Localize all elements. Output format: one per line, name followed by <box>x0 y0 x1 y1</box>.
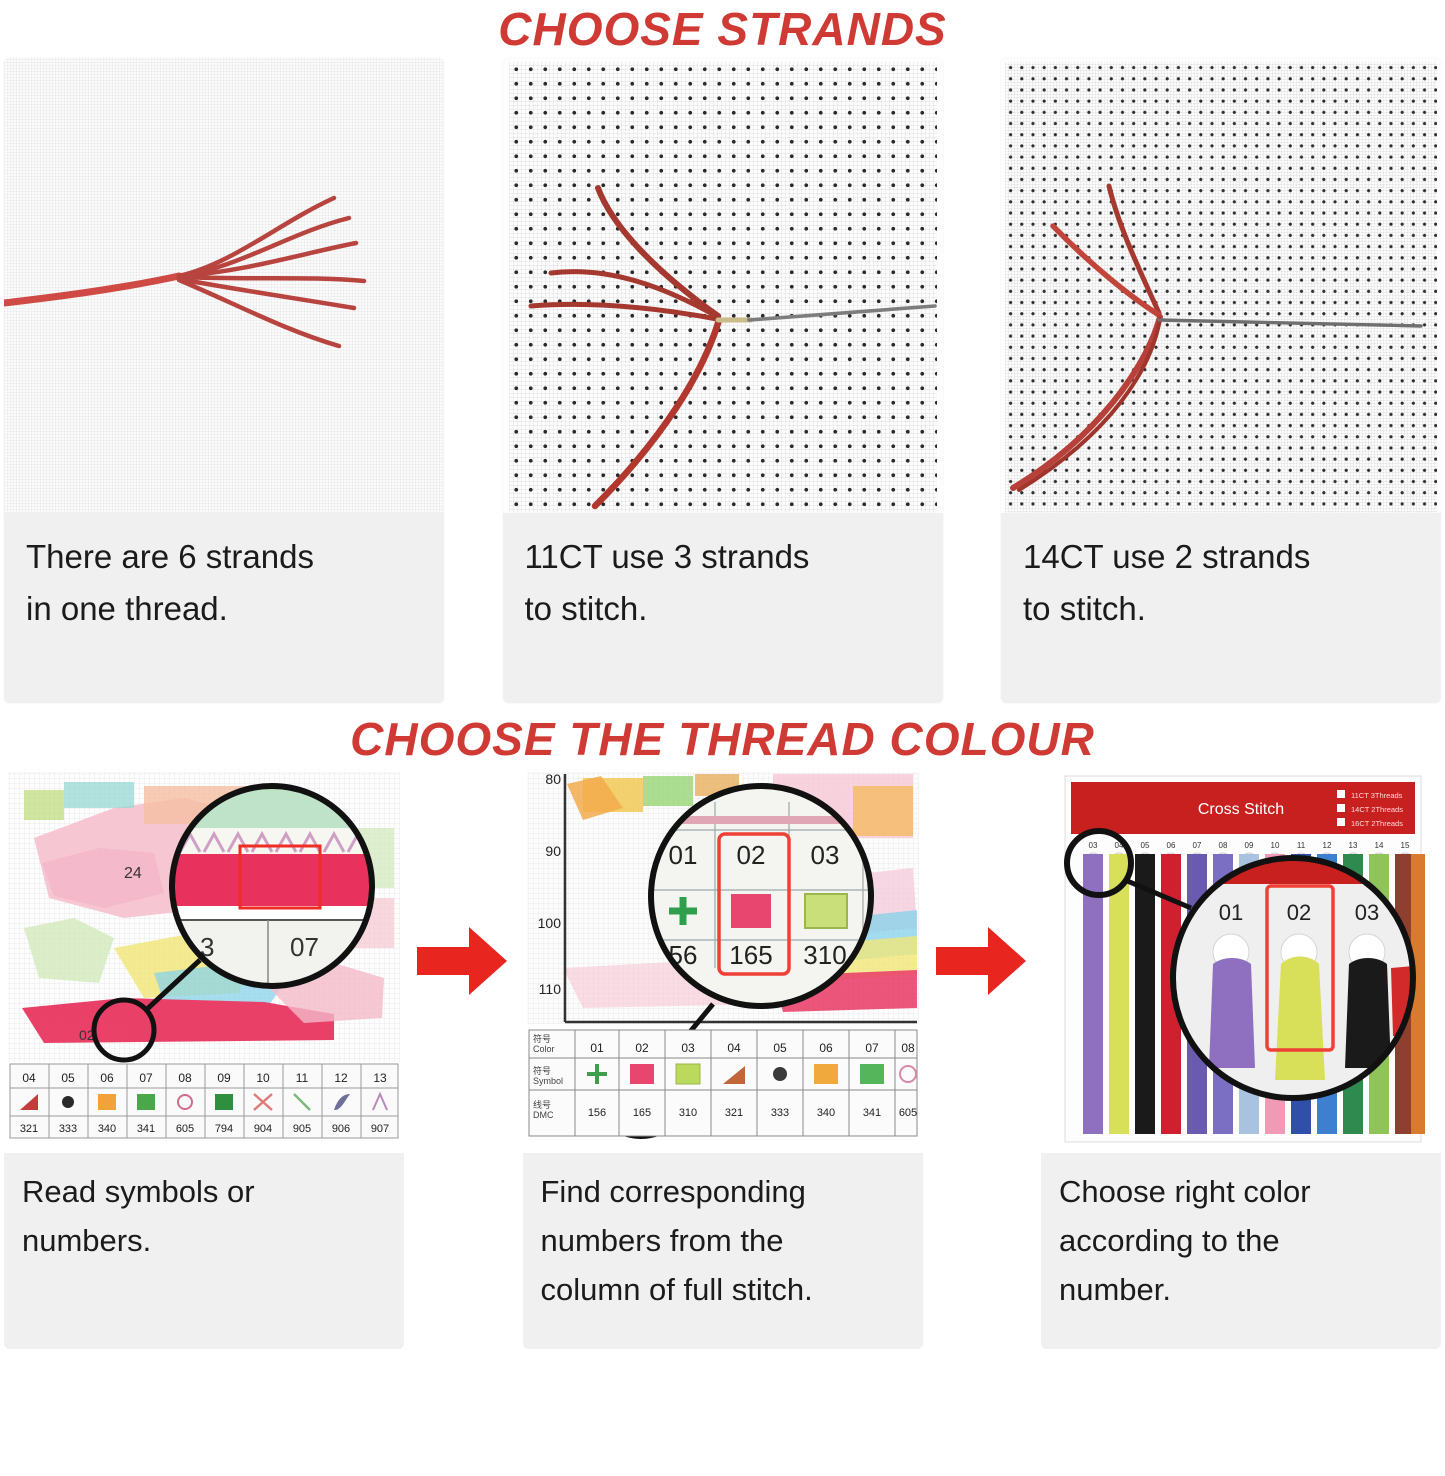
svg-text:794: 794 <box>215 1123 233 1135</box>
svg-text:08: 08 <box>178 1071 192 1085</box>
svg-text:90: 90 <box>545 843 561 859</box>
three-strand-needle-illustration <box>503 58 943 513</box>
svg-text:310: 310 <box>678 1107 696 1119</box>
right-arrow-icon <box>417 921 509 1001</box>
panel-choose-color: Cross Stitch 11CT 3Threads 14CT 2Threads… <box>1041 768 1441 1349</box>
svg-text:12: 12 <box>1323 841 1332 850</box>
svg-text:340: 340 <box>816 1107 834 1119</box>
svg-text:321: 321 <box>724 1107 742 1119</box>
svg-text:13: 13 <box>373 1071 387 1085</box>
caption-line-2: numbers from the <box>541 1216 905 1265</box>
svg-text:03: 03 <box>681 1041 695 1055</box>
grid-chart-illustration: 80 90 100 110 02 165 <box>523 768 923 1153</box>
panel-find-numbers: 80 90 100 110 02 165 <box>523 768 923 1349</box>
svg-text:04: 04 <box>727 1041 741 1055</box>
svg-text:15: 15 <box>1401 841 1410 850</box>
svg-text:符号: 符号 <box>533 1033 551 1044</box>
caption-choose-color: Choose right color according to the numb… <box>1041 1153 1441 1349</box>
mag-thread-02: 02 <box>1287 900 1311 925</box>
svg-text:10: 10 <box>1271 841 1280 850</box>
svg-text:156: 156 <box>587 1107 605 1119</box>
caption-line-1: Find corresponding <box>541 1167 905 1216</box>
panel-six-strands: There are 6 strands in one thread. <box>4 58 444 703</box>
mag-number-02: 02 <box>736 840 765 870</box>
legend-table-2: 符号Color 符号Symbol 线号DMC 010203 040506 070… <box>529 1030 917 1136</box>
svg-text:04: 04 <box>22 1071 36 1085</box>
svg-text:14CT 2Threads: 14CT 2Threads <box>1351 805 1403 814</box>
caption-find-numbers: Find corresponding numbers from the colu… <box>523 1153 923 1349</box>
svg-text:165: 165 <box>632 1107 650 1119</box>
svg-text:符号: 符号 <box>533 1065 551 1076</box>
svg-text:333: 333 <box>770 1107 788 1119</box>
svg-text:340: 340 <box>98 1123 116 1135</box>
panel-14ct-two-strands: 14CT use 2 strands to stitch. <box>1001 58 1441 703</box>
caption-14ct: 14CT use 2 strands to stitch. <box>1001 513 1441 703</box>
strands-panel-row: There are 6 strands in one thread. 11CT … <box>0 58 1445 708</box>
caption-line-1: There are 6 strands <box>26 531 422 583</box>
mag-number-03: 03 <box>810 840 839 870</box>
svg-text:06: 06 <box>100 1071 114 1085</box>
mag-thread-03: 03 <box>1355 900 1379 925</box>
panel-11ct-three-strands: 11CT use 3 strands to stitch. <box>503 58 943 703</box>
svg-text:Color: Color <box>533 1044 555 1054</box>
six-strand-thread-illustration <box>4 58 444 513</box>
caption-six-strands: There are 6 strands in one thread. <box>4 513 444 703</box>
svg-text:100: 100 <box>537 915 561 931</box>
right-arrow-icon <box>936 921 1028 1001</box>
caption-line-1: Read symbols or <box>22 1167 386 1216</box>
mag-code-right: 310 <box>803 940 846 970</box>
svg-text:05: 05 <box>773 1041 787 1055</box>
mag-code-center: 165 <box>729 940 772 970</box>
svg-text:07: 07 <box>865 1041 879 1055</box>
svg-text:11CT 3Threads: 11CT 3Threads <box>1351 791 1403 800</box>
section-title-choose-strands: CHOOSE STRANDS <box>0 0 1445 58</box>
svg-text:02: 02 <box>635 1041 649 1055</box>
thread-organizer-illustration: Cross Stitch 11CT 3Threads 14CT 2Threads… <box>1041 768 1441 1153</box>
svg-text:110: 110 <box>538 981 561 997</box>
caption-line-2: in one thread. <box>26 583 422 635</box>
svg-text:06: 06 <box>1167 841 1176 850</box>
svg-text:03: 03 <box>1089 841 1098 850</box>
panel-read-symbols: 24 02 3 <box>4 768 404 1349</box>
svg-text:线号: 线号 <box>533 1099 551 1110</box>
mag-number-01: 01 <box>668 840 697 870</box>
arrow-2-wrapper <box>932 768 1032 1153</box>
photo-14ct-aida <box>1001 58 1441 513</box>
chart-cell-label-24: 24 <box>124 865 142 882</box>
svg-text:321: 321 <box>20 1123 38 1135</box>
svg-text:905: 905 <box>293 1123 311 1135</box>
svg-text:08: 08 <box>1219 841 1228 850</box>
card-title: Cross Stitch <box>1198 801 1284 818</box>
svg-text:07: 07 <box>1193 841 1202 850</box>
caption-line-2: according to the <box>1059 1216 1423 1265</box>
svg-text:341: 341 <box>137 1123 155 1135</box>
svg-text:605: 605 <box>176 1123 194 1135</box>
legend-table: 040506 070809 101112 13 <box>10 1064 398 1138</box>
svg-text:07: 07 <box>139 1071 153 1085</box>
caption-line-2: numbers. <box>22 1216 386 1265</box>
svg-text:333: 333 <box>59 1123 77 1135</box>
caption-line-1: Choose right color <box>1059 1167 1423 1216</box>
thread-colour-panel-row: 24 02 3 <box>0 768 1445 1368</box>
caption-line-1: 14CT use 2 strands <box>1023 531 1419 583</box>
svg-text:341: 341 <box>862 1107 880 1119</box>
svg-text:16CT 2Threads: 16CT 2Threads <box>1351 819 1403 828</box>
svg-text:11: 11 <box>296 1071 309 1085</box>
svg-text:12: 12 <box>334 1071 348 1085</box>
photo-thread-organizer: Cross Stitch 11CT 3Threads 14CT 2Threads… <box>1041 768 1441 1153</box>
photo-11ct-aida <box>503 58 943 513</box>
svg-text:DMC: DMC <box>533 1110 554 1120</box>
svg-text:14: 14 <box>1375 841 1384 850</box>
svg-text:907: 907 <box>371 1123 389 1135</box>
svg-text:05: 05 <box>61 1071 75 1085</box>
caption-line-2: to stitch. <box>1023 583 1419 635</box>
svg-text:13: 13 <box>1349 841 1358 850</box>
svg-text:06: 06 <box>819 1041 833 1055</box>
svg-text:906: 906 <box>332 1123 350 1135</box>
mag-thread-01: 01 <box>1219 900 1243 925</box>
photo-six-strands <box>4 58 444 513</box>
caption-read-symbols: Read symbols or numbers. <box>4 1153 404 1349</box>
svg-text:05: 05 <box>1141 841 1150 850</box>
caption-line-3: column of full stitch. <box>541 1265 905 1314</box>
svg-text:09: 09 <box>217 1071 231 1085</box>
svg-text:10: 10 <box>256 1071 270 1085</box>
photo-pattern-chart: 24 02 3 <box>4 768 404 1153</box>
svg-text:605: 605 <box>898 1107 916 1119</box>
magnifier-code-right: 07 <box>290 932 319 962</box>
svg-text:904: 904 <box>254 1123 272 1135</box>
svg-text:01: 01 <box>590 1041 604 1055</box>
photo-grid-chart: 80 90 100 110 02 165 <box>523 768 923 1153</box>
caption-line-1: 11CT use 3 strands <box>525 531 921 583</box>
caption-line-2: to stitch. <box>525 583 921 635</box>
two-strand-needle-illustration <box>1001 58 1441 513</box>
caption-line-3: number. <box>1059 1265 1423 1314</box>
svg-text:09: 09 <box>1245 841 1254 850</box>
arrow-1-wrapper <box>413 768 513 1153</box>
pattern-chart-illustration: 24 02 3 <box>4 768 404 1153</box>
svg-text:80: 80 <box>545 771 561 787</box>
caption-11ct: 11CT use 3 strands to stitch. <box>503 513 943 703</box>
svg-text:08: 08 <box>901 1041 915 1055</box>
section-title-choose-thread-colour: CHOOSE THE THREAD COLOUR <box>0 708 1445 768</box>
svg-text:11: 11 <box>1297 841 1306 850</box>
svg-text:Symbol: Symbol <box>533 1076 563 1086</box>
